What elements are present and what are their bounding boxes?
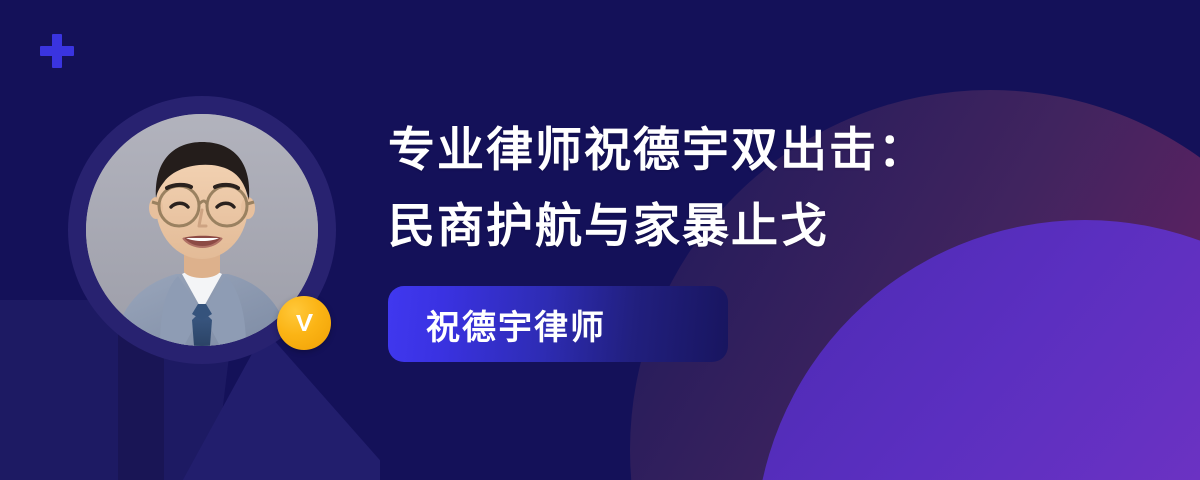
verified-badge-icon	[277, 296, 331, 350]
promo-banner: 专业律师祝德宇双出击： 民商护航与家暴止戈 祝德宇律师	[0, 0, 1200, 480]
banner-content: 专业律师祝德宇双出击： 民商护航与家暴止戈 祝德宇律师	[388, 112, 1148, 362]
headline-line-2: 民商护航与家暴止戈	[388, 188, 1148, 264]
avatar	[68, 96, 336, 364]
plus-icon	[40, 34, 74, 68]
headline-line-1: 专业律师祝德宇双出击：	[388, 112, 1148, 188]
lawyer-name-button[interactable]: 祝德宇律师	[388, 286, 728, 362]
